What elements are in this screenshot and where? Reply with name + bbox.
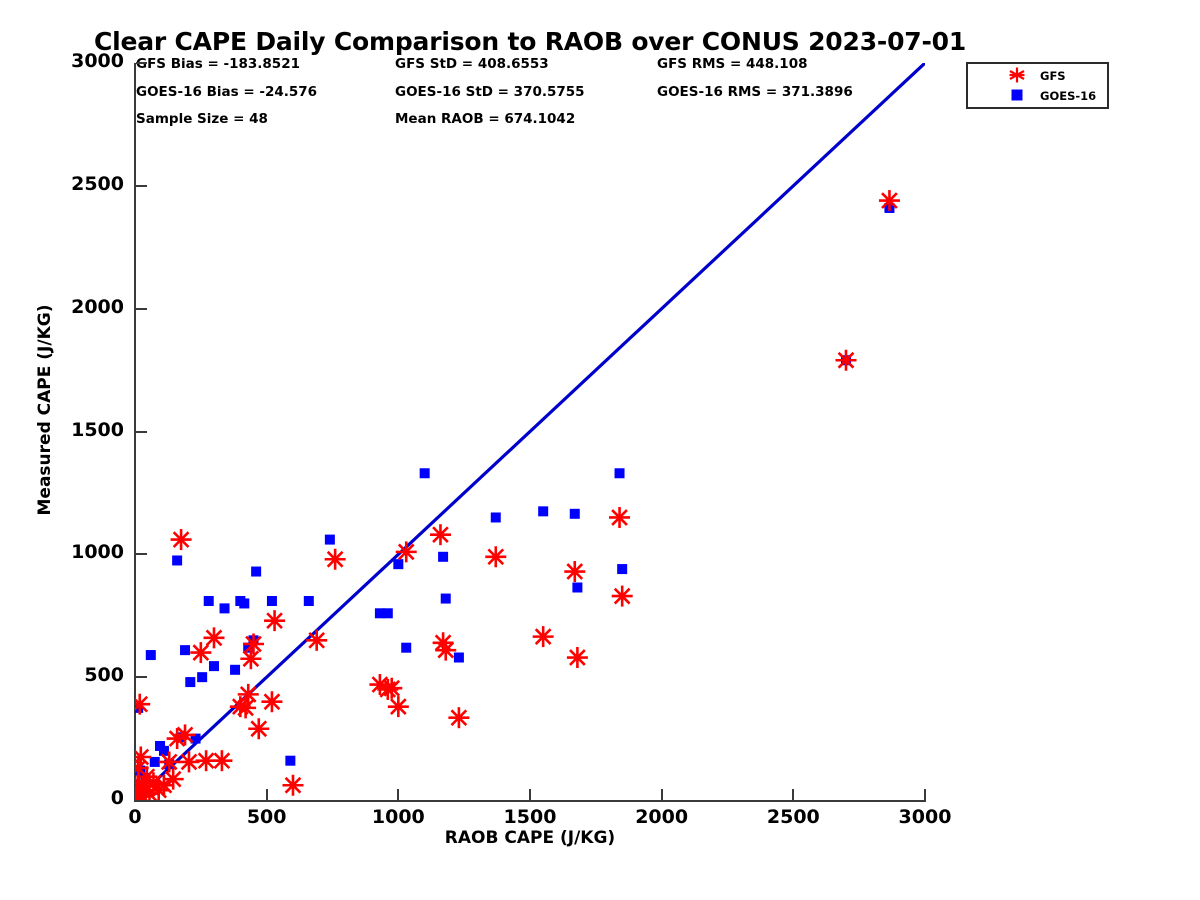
x-tick-label: 2000: [617, 806, 707, 828]
data-point-goes16: [230, 665, 240, 675]
data-point-goes16: [572, 582, 582, 592]
x-tick-label: 2500: [748, 806, 838, 828]
x-axis-line: [134, 800, 926, 802]
data-point-goes16: [172, 555, 182, 565]
data-point-gfs: [448, 707, 469, 728]
legend-item-goes16: GOES-16: [968, 85, 1107, 105]
data-point-goes16: [220, 603, 230, 613]
data-point-gfs: [396, 541, 417, 562]
data-point-goes16: [267, 596, 277, 606]
data-point-gfs: [435, 640, 456, 661]
page-title: Clear CAPE Daily Comparison to RAOB over…: [0, 27, 1060, 56]
data-point-gfs: [325, 549, 346, 570]
data-point-gfs: [261, 691, 282, 712]
data-point-goes16: [538, 506, 548, 516]
data-point-gfs: [430, 524, 451, 545]
y-axis-label: Measured CAPE (J/KG): [35, 170, 55, 650]
data-point-goes16: [185, 677, 195, 687]
x-tick-label: 1500: [485, 806, 575, 828]
data-point-gfs: [564, 561, 585, 582]
data-point-goes16: [180, 645, 190, 655]
legend-label-goes16: GOES-16: [1040, 89, 1096, 103]
data-point-gfs: [612, 586, 633, 607]
data-point-goes16: [325, 535, 335, 545]
asterisk-marker-icon: [1006, 65, 1028, 85]
data-point-gfs: [211, 750, 232, 771]
data-point-gfs: [175, 724, 196, 745]
data-point-gfs: [283, 775, 304, 796]
data-point-gfs: [163, 769, 184, 790]
data-point-goes16: [285, 756, 295, 766]
data-point-gfs: [306, 630, 327, 651]
data-point-goes16: [393, 559, 403, 569]
x-tick-label: 3000: [880, 806, 970, 828]
data-point-gfs: [836, 350, 857, 371]
data-point-gfs: [485, 546, 506, 567]
data-point-gfs: [248, 718, 269, 739]
data-point-goes16: [159, 746, 169, 756]
data-point-goes16: [570, 509, 580, 519]
data-point-gfs: [879, 190, 900, 211]
data-point-gfs: [159, 751, 180, 772]
data-point-gfs: [238, 684, 259, 705]
data-point-goes16: [150, 757, 160, 767]
data-point-gfs: [204, 627, 225, 648]
data-point-goes16: [491, 512, 501, 522]
y-tick-label: 500: [40, 664, 124, 686]
chart-page: Clear CAPE Daily Comparison to RAOB over…: [0, 0, 1200, 900]
data-point-gfs: [171, 529, 192, 550]
data-point-goes16: [420, 468, 430, 478]
data-point-gfs: [240, 648, 261, 669]
data-point-goes16: [454, 653, 464, 663]
x-axis-label: RAOB CAPE (J/KG): [135, 828, 925, 848]
data-point-gfs: [609, 507, 630, 528]
data-point-goes16: [209, 661, 219, 671]
legend-item-gfs: GFS: [968, 65, 1107, 85]
data-point-goes16: [239, 598, 249, 608]
x-tick-label: 0: [90, 806, 180, 828]
data-point-goes16: [197, 672, 207, 682]
data-point-goes16: [383, 608, 393, 618]
data-point-goes16: [438, 552, 448, 562]
data-point-gfs: [264, 610, 285, 631]
series-gfs: [135, 190, 900, 800]
square-marker-icon: [1006, 85, 1028, 105]
data-point-goes16: [401, 643, 411, 653]
data-point-gfs: [243, 634, 264, 655]
data-point-goes16: [251, 567, 261, 577]
data-point-gfs: [533, 626, 554, 647]
data-point-goes16: [146, 650, 156, 660]
data-point-goes16: [441, 594, 451, 604]
legend-label-gfs: GFS: [1040, 69, 1066, 83]
data-point-gfs: [381, 678, 402, 699]
data-point-gfs: [567, 647, 588, 668]
x-tick-label: 1000: [353, 806, 443, 828]
data-point-goes16: [617, 564, 627, 574]
data-point-goes16: [615, 468, 625, 478]
y-tick-label: 3000: [40, 50, 124, 72]
scatter-plot-canvas: [135, 63, 925, 800]
data-point-goes16: [304, 596, 314, 606]
data-point-gfs: [388, 696, 409, 717]
x-tick-label: 500: [222, 806, 312, 828]
legend: GFS GOES-16: [966, 62, 1109, 109]
data-point-goes16: [204, 596, 214, 606]
